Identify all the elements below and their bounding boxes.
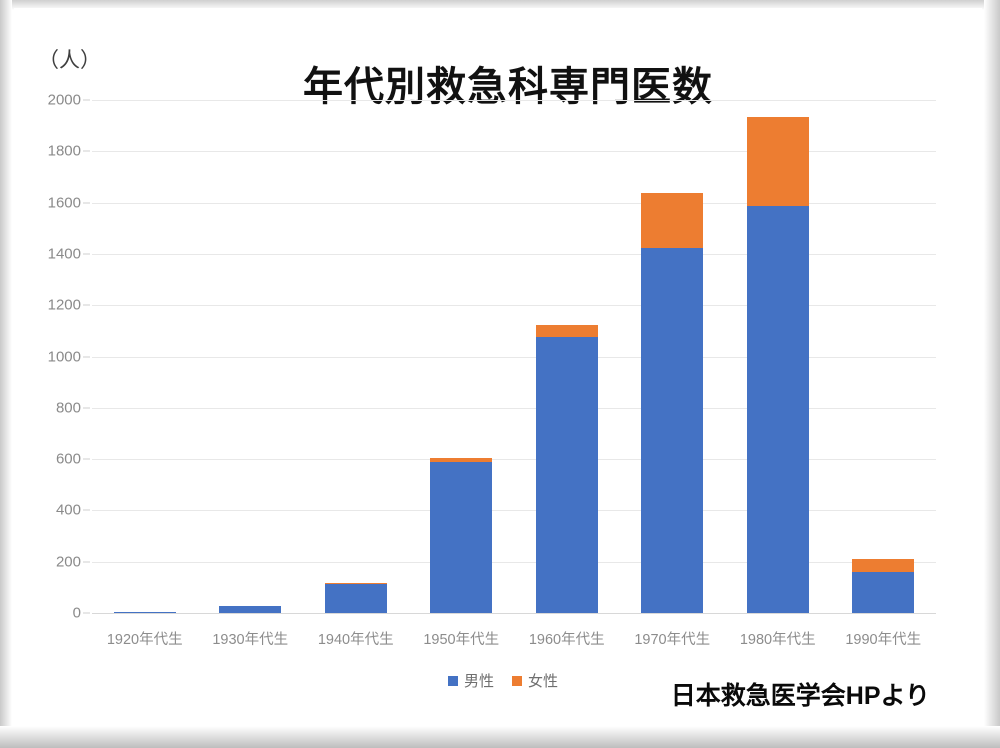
bar-stack[interactable] [747,117,809,613]
bar-segment-male[interactable] [430,462,492,613]
bar-stack[interactable] [114,612,176,613]
y-tick-label: 2000 [48,92,81,109]
y-tick-mark [83,151,90,152]
x-tick-label: 1990年代生 [845,628,921,649]
bar-slot [409,100,515,613]
y-tick-label: 400 [56,502,81,519]
bars-group [92,100,936,613]
y-tick-mark [83,305,90,306]
y-tick-mark [83,510,90,511]
source-note: 日本救急医学会HPより [671,676,930,712]
y-tick-label: 200 [56,553,81,570]
x-tick-label: 1960年代生 [529,628,605,649]
y-tick-label: 1400 [48,245,81,262]
x-tick-label: 1920年代生 [107,628,183,649]
slide-screenshot: （人） 年代別救急科専門医数 0200400600800100012001400… [0,0,1000,748]
bar-slot [514,100,620,613]
y-tick-mark [83,100,90,101]
x-tick-label: 1980年代生 [740,628,816,649]
bar-segment-male[interactable] [852,572,914,613]
x-tick-label: 1930年代生 [212,628,288,649]
y-tick-label: 1000 [48,348,81,365]
x-tick-label: 1940年代生 [318,628,394,649]
bar-segment-male[interactable] [114,612,176,613]
y-tick-mark [83,613,90,614]
bar-segment-female[interactable] [641,193,703,248]
bar-slot [620,100,726,613]
y-tick-mark [83,356,90,357]
y-tick-label: 0 [73,605,81,622]
y-tick-mark [83,253,90,254]
plot-area: 0200400600800100012001400160018002000 [92,100,936,621]
bar-segment-female[interactable] [852,559,914,572]
bar-segment-male[interactable] [747,206,809,613]
plot-inner: 0200400600800100012001400160018002000 [92,100,936,613]
bar-stack[interactable] [430,458,492,613]
bar-stack[interactable] [641,193,703,613]
bar-segment-female[interactable] [747,117,809,206]
x-axis-labels: 1920年代生1930年代生1940年代生1950年代生1960年代生1970年… [92,628,936,652]
bar-segment-male[interactable] [219,606,281,613]
bar-segment-male[interactable] [325,584,387,613]
y-tick-label: 1800 [48,143,81,160]
bar-stack[interactable] [536,325,598,613]
frame-edge-left [0,0,12,748]
bar-stack[interactable] [852,559,914,613]
slide-canvas: （人） 年代別救急科専門医数 0200400600800100012001400… [14,8,982,724]
y-tick-label: 1600 [48,194,81,211]
y-tick-mark [83,407,90,408]
gridline: 0 [92,613,936,614]
frame-edge-right [984,0,1000,748]
bar-slot [92,100,198,613]
legend-item[interactable]: 女性 [512,670,558,691]
bar-slot [303,100,409,613]
x-tick-label: 1970年代生 [634,628,710,649]
legend-item[interactable]: 男性 [448,670,494,691]
y-tick-label: 600 [56,451,81,468]
y-tick-mark [83,561,90,562]
y-tick-label: 800 [56,399,81,416]
x-tick-label: 1950年代生 [423,628,499,649]
legend-label: 女性 [528,670,558,691]
bar-slot [198,100,304,613]
bar-segment-male[interactable] [641,248,703,613]
bar-segment-male[interactable] [536,337,598,613]
legend-swatch-icon [512,676,522,686]
legend-label: 男性 [464,670,494,691]
bar-stack[interactable] [219,606,281,613]
y-tick-mark [83,459,90,460]
legend-swatch-icon [448,676,458,686]
bar-slot [831,100,937,613]
frame-edge-bottom [0,726,1000,748]
bar-slot [725,100,831,613]
bar-stack[interactable] [325,583,387,613]
bar-segment-female[interactable] [536,325,598,337]
y-tick-label: 1200 [48,297,81,314]
y-tick-mark [83,202,90,203]
